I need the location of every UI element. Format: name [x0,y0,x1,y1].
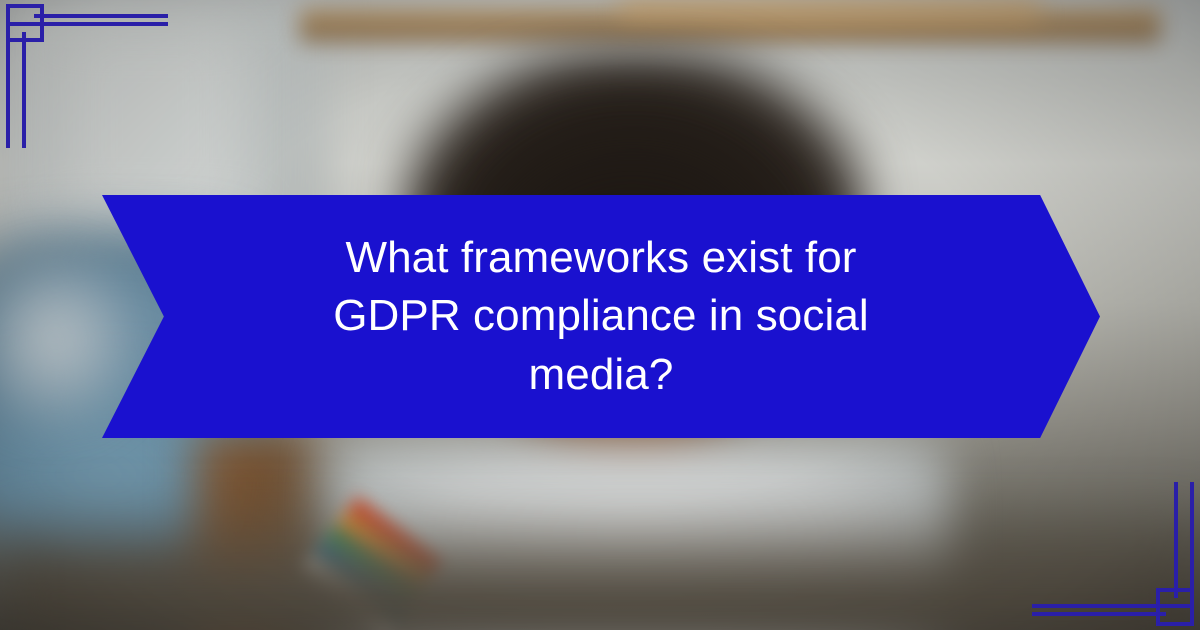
headline-banner: What frameworks exist for GDPR complianc… [102,195,1100,438]
social-card: What frameworks exist for GDPR complianc… [0,0,1200,630]
banner-title: What frameworks exist for GDPR complianc… [221,229,981,403]
